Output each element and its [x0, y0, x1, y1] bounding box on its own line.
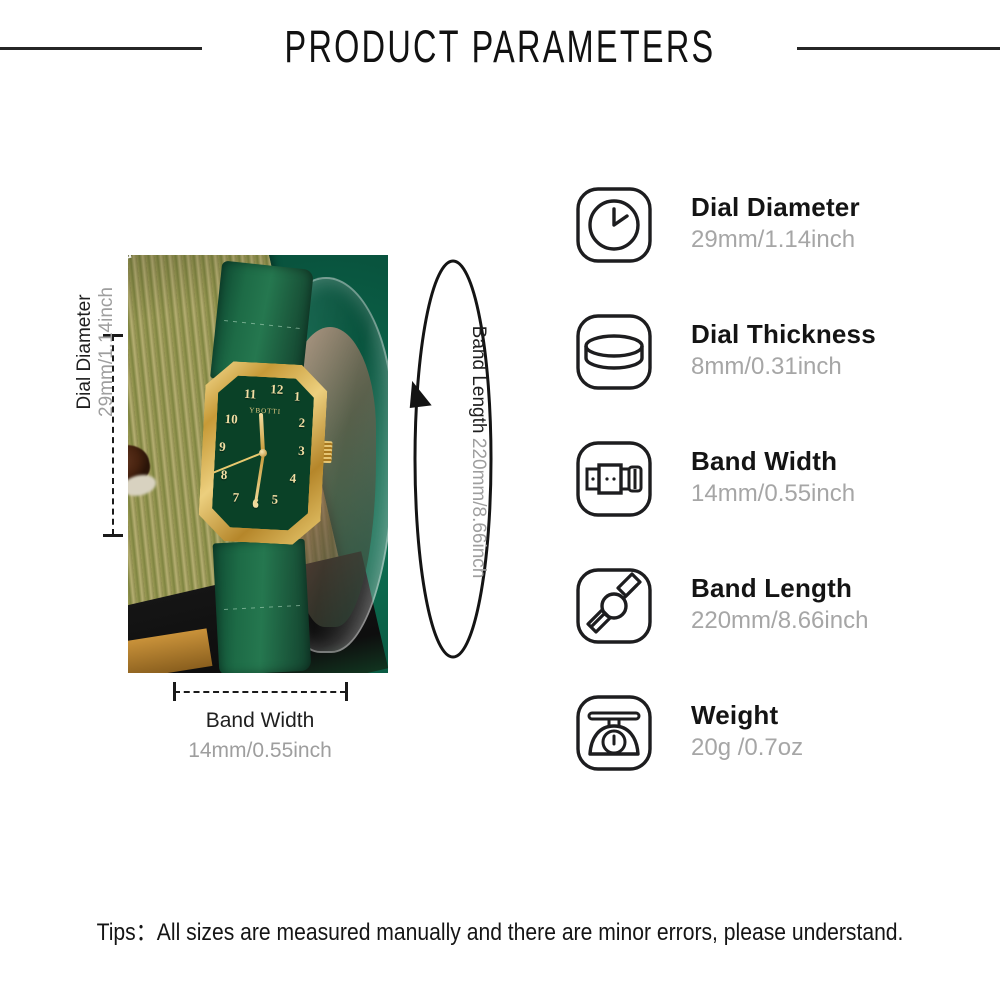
band-length-annotation-value: 220mm/8.66inch — [468, 438, 489, 578]
spec-label: Band Width — [691, 444, 855, 478]
band-width-annotation-value: 14mm/0.55inch — [128, 736, 392, 766]
dial-diameter-annotation: Dial Diameter 29mm/1.14inch — [74, 247, 118, 457]
clock-dial-icon — [573, 184, 655, 266]
dial-numeral-9: 9 — [219, 439, 226, 455]
spec-value: 8mm/0.31inch — [691, 351, 876, 383]
dial-numeral-7: 7 — [232, 489, 239, 505]
spec-list: Dial Diameter 29mm/1.14inch Dial Thickne… — [573, 184, 973, 819]
spec-label: Weight — [691, 698, 803, 732]
dial-numeral-3: 3 — [298, 443, 305, 459]
second-hand — [209, 452, 263, 475]
spec-row-band-width: Band Width 14mm/0.55inch — [573, 438, 973, 565]
dial-diameter-annotation-label: Dial Diameter — [74, 294, 95, 409]
strap-stitching — [224, 320, 300, 329]
page-title: PRODUCT PARAMETERS — [140, 18, 860, 76]
dial-numeral-4: 4 — [289, 470, 296, 486]
page-header: PRODUCT PARAMETERS — [0, 0, 1000, 96]
spec-label: Dial Thickness — [691, 317, 876, 351]
spec-row-dial-diameter: Dial Diameter 29mm/1.14inch — [573, 184, 973, 311]
hour-hand — [259, 413, 265, 453]
magazine-blob-light — [128, 472, 158, 499]
spec-value: 29mm/1.14inch — [691, 224, 860, 256]
dial-numeral-2: 2 — [298, 415, 305, 431]
band-length-annotation: Band Length 220mm/8.66inch — [407, 256, 499, 662]
band-length-annotation-label: Band Length — [468, 326, 489, 434]
spec-label: Band Length — [691, 571, 868, 605]
band-width-annotation: Band Width 14mm/0.55inch — [128, 706, 392, 766]
band-width-dashed-line — [174, 691, 346, 693]
hand-pin — [259, 449, 267, 457]
spec-row-band-length: Band Length 220mm/8.66inch — [573, 565, 973, 692]
spec-row-weight: Weight 20g /0.7oz — [573, 692, 973, 819]
dial-numeral-12: 12 — [270, 381, 284, 398]
product-photo: Freshness YBOTTI 12 1 2 3 4 5 6 7 8 9 10… — [128, 255, 388, 673]
spec-label: Dial Diameter — [691, 190, 860, 224]
watch-strap-bottom — [213, 539, 312, 673]
spec-value: 14mm/0.55inch — [691, 478, 855, 510]
dial-numeral-1: 1 — [294, 389, 301, 405]
spec-text-dial-diameter: Dial Diameter 29mm/1.14inch — [691, 190, 860, 256]
band-length-annotation-text: Band Length 220mm/8.66inch — [467, 307, 489, 597]
spec-text-band-width: Band Width 14mm/0.55inch — [691, 444, 855, 510]
spec-value: 220mm/8.66inch — [691, 605, 868, 637]
spec-text-weight: Weight 20g /0.7oz — [691, 698, 803, 764]
watch-band-icon — [573, 565, 655, 647]
dial-diameter-annotation-value: 29mm/1.14inch — [96, 287, 117, 417]
band-width-annotation-label: Band Width — [128, 706, 392, 736]
magazine-text: Freshness — [128, 255, 133, 278]
kitchen-scale-icon — [573, 692, 655, 774]
strap-buckle-icon — [573, 438, 655, 520]
spec-row-dial-thickness: Dial Thickness 8mm/0.31inch — [573, 311, 973, 438]
strap-stitching — [224, 605, 300, 610]
dial-numeral-11: 11 — [244, 386, 257, 403]
tips-note: Tips：All sizes are measured manually and… — [60, 912, 940, 947]
spec-value: 20g /0.7oz — [691, 732, 803, 764]
spec-text-dial-thickness: Dial Thickness 8mm/0.31inch — [691, 317, 876, 383]
dial-numeral-10: 10 — [224, 411, 238, 428]
dial-numeral-5: 5 — [271, 492, 278, 508]
watch-dial: YBOTTI 12 1 2 3 4 5 6 7 8 9 10 11 — [211, 375, 315, 532]
watch-case: YBOTTI 12 1 2 3 4 5 6 7 8 9 10 11 — [197, 360, 328, 546]
spec-text-band-length: Band Length 220mm/8.66inch — [691, 571, 868, 637]
cylinder-thickness-icon — [573, 311, 655, 393]
